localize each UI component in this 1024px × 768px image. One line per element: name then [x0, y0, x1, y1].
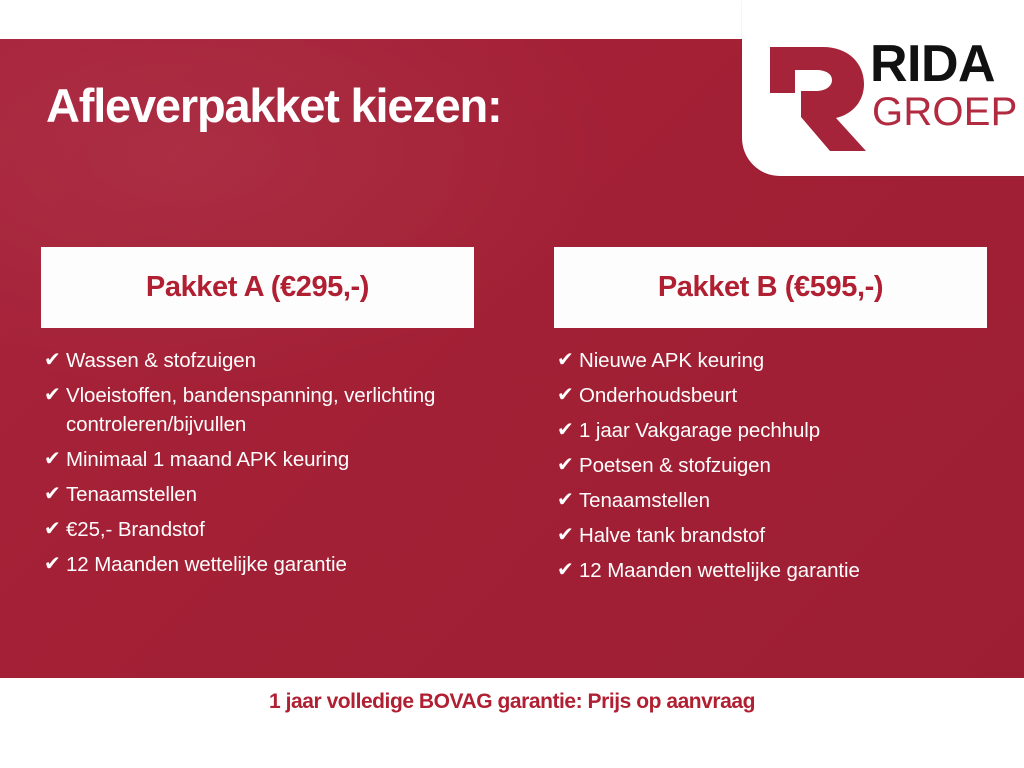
list-item: ✔ Onderhoudsbeurt [554, 381, 987, 410]
brand-logo-panel: RIDA GROEP [742, 0, 1024, 176]
package-card-a[interactable]: Pakket A (€295,-) ✔ Wassen & stofzuigen … [41, 247, 474, 591]
feature-label: Tenaamstellen [66, 480, 474, 509]
package-b-feature-list: ✔ Nieuwe APK keuring ✔ Onderhoudsbeurt ✔… [554, 346, 987, 585]
check-icon: ✔ [41, 480, 66, 509]
feature-label: 12 Maanden wettelijke garantie [66, 550, 474, 579]
footer-bar: 1 jaar volledige BOVAG garantie: Prijs o… [0, 678, 1024, 768]
feature-label: Wassen & stofzuigen [66, 346, 474, 375]
check-icon: ✔ [554, 521, 579, 550]
feature-label: Vloeistoffen, bandenspanning, verlichtin… [66, 381, 474, 439]
check-icon: ✔ [41, 381, 66, 410]
list-item: ✔ Halve tank brandstof [554, 521, 987, 550]
check-icon: ✔ [554, 451, 579, 480]
check-icon: ✔ [41, 346, 66, 375]
brand-name-primary: RIDA [870, 40, 1012, 90]
list-item: ✔ Wassen & stofzuigen [41, 346, 474, 375]
brand-wordmark: RIDA GROEP [870, 40, 1012, 132]
package-a-feature-list: ✔ Wassen & stofzuigen ✔ Vloeistoffen, ba… [41, 346, 474, 579]
feature-label: Minimaal 1 maand APK keuring [66, 445, 474, 474]
feature-label: 12 Maanden wettelijke garantie [579, 556, 987, 585]
package-a-title: Pakket A (€295,-) [146, 271, 369, 304]
list-item: ✔ Tenaamstellen [41, 480, 474, 509]
package-card-b[interactable]: Pakket B (€595,-) ✔ Nieuwe APK keuring ✔… [554, 247, 987, 591]
check-icon: ✔ [554, 381, 579, 410]
package-a-header[interactable]: Pakket A (€295,-) [41, 247, 474, 328]
list-item: ✔ Nieuwe APK keuring [554, 346, 987, 375]
packages-container: Pakket A (€295,-) ✔ Wassen & stofzuigen … [41, 247, 987, 591]
package-b-title: Pakket B (€595,-) [658, 271, 883, 304]
brand-name-secondary: GROEP [872, 92, 1012, 132]
feature-label: Nieuwe APK keuring [579, 346, 987, 375]
promo-slide: Afleverpakket kiezen: RIDA GROEP Pakket … [0, 0, 1024, 768]
footer-note: 1 jaar volledige BOVAG garantie: Prijs o… [0, 690, 1024, 714]
list-item: ✔ 1 jaar Vakgarage pechhulp [554, 416, 987, 445]
package-b-header[interactable]: Pakket B (€595,-) [554, 247, 987, 328]
rida-r-monogram-icon [760, 33, 878, 151]
check-icon: ✔ [41, 515, 66, 544]
list-item: ✔ €25,- Brandstof [41, 515, 474, 544]
check-icon: ✔ [41, 550, 66, 579]
list-item: ✔ Vloeistoffen, bandenspanning, verlicht… [41, 381, 474, 439]
feature-label: Halve tank brandstof [579, 521, 987, 550]
feature-label: Onderhoudsbeurt [579, 381, 987, 410]
list-item: ✔ Minimaal 1 maand APK keuring [41, 445, 474, 474]
feature-label: Tenaamstellen [579, 486, 987, 515]
check-icon: ✔ [554, 486, 579, 515]
page-title: Afleverpakket kiezen: [46, 78, 501, 133]
list-item: ✔ 12 Maanden wettelijke garantie [41, 550, 474, 579]
check-icon: ✔ [554, 416, 579, 445]
check-icon: ✔ [41, 445, 66, 474]
check-icon: ✔ [554, 556, 579, 585]
brand-logo: RIDA GROEP [742, 0, 1024, 176]
feature-label: €25,- Brandstof [66, 515, 474, 544]
feature-label: Poetsen & stofzuigen [579, 451, 987, 480]
list-item: ✔ Tenaamstellen [554, 486, 987, 515]
list-item: ✔ Poetsen & stofzuigen [554, 451, 987, 480]
list-item: ✔ 12 Maanden wettelijke garantie [554, 556, 987, 585]
check-icon: ✔ [554, 346, 579, 375]
feature-label: 1 jaar Vakgarage pechhulp [579, 416, 987, 445]
